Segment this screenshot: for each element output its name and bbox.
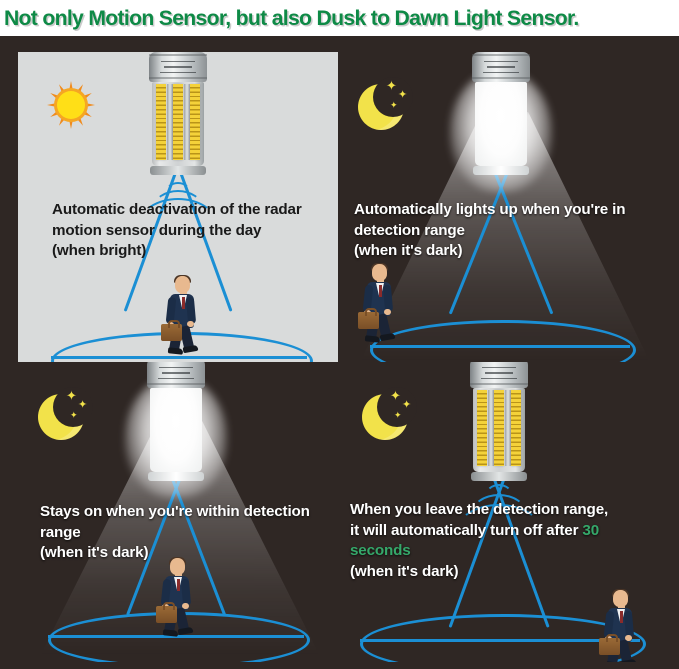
person-figure (159, 276, 205, 354)
detection-diameter (51, 356, 307, 359)
panel-caption: Automatically lights up when you're in d… (354, 200, 660, 262)
bulb-body (475, 82, 527, 166)
led-bulb-off (149, 52, 207, 175)
bulb-cap (470, 362, 528, 388)
bulb-foot (150, 166, 206, 175)
bulb-cap (147, 362, 205, 388)
bulb-foot (148, 472, 204, 481)
briefcase (161, 324, 182, 341)
bulb-cap (472, 52, 530, 82)
sun-icon (44, 78, 98, 132)
led-bulb-off (470, 362, 528, 481)
bulb-body (473, 388, 525, 472)
bulb-foot (471, 472, 527, 481)
moon-icon: ✦ ✦ ✦ (360, 384, 422, 446)
panel-board: Automatic deactivation of the radar moti… (0, 36, 679, 669)
bulb-body (152, 82, 204, 166)
panel-caption: Automatic deactivation of the radar moti… (52, 200, 338, 262)
bulb-label (156, 365, 196, 381)
briefcase (156, 606, 177, 623)
caption-text-part2: (when it's dark) (350, 563, 458, 580)
caption-text-part1: When you leave the detection range, it w… (350, 501, 608, 539)
bulb-body (150, 388, 202, 472)
infographic-page: Not only Motion Sensor, but also Dusk to… (0, 0, 679, 669)
panel-caption: Stays on when you're within detection ra… (40, 502, 338, 564)
moon-icon: ✦ ✦ ✦ (356, 74, 418, 136)
led-bulb-on (147, 362, 205, 481)
panel-caption: When you leave the detection range, it w… (350, 500, 662, 582)
bulb-cap (149, 52, 207, 82)
panel-night-stays-on: ✦ ✦ ✦ (18, 362, 338, 662)
bulb-label (158, 59, 198, 75)
bulb-foot (473, 166, 529, 175)
person-figure (597, 590, 643, 662)
detection-diameter (370, 345, 630, 348)
person-figure (154, 558, 200, 636)
title-bar: Not only Motion Sensor, but also Dusk to… (0, 0, 679, 36)
bulb-label (481, 59, 521, 75)
led-bulb-on (472, 52, 530, 175)
bulb-label (479, 365, 519, 381)
panel-day-deactivated: Automatic deactivation of the radar moti… (18, 52, 338, 374)
moon-icon: ✦ ✦ ✦ (36, 384, 98, 446)
page-title: Not only Motion Sensor, but also Dusk to… (0, 6, 579, 31)
briefcase (358, 312, 379, 329)
briefcase (599, 638, 620, 655)
panel-night-lights-up: ✦ ✦ ✦ (342, 52, 664, 374)
person-figure (356, 264, 402, 342)
panel-night-turns-off: ✦ ✦ ✦ (342, 362, 664, 662)
